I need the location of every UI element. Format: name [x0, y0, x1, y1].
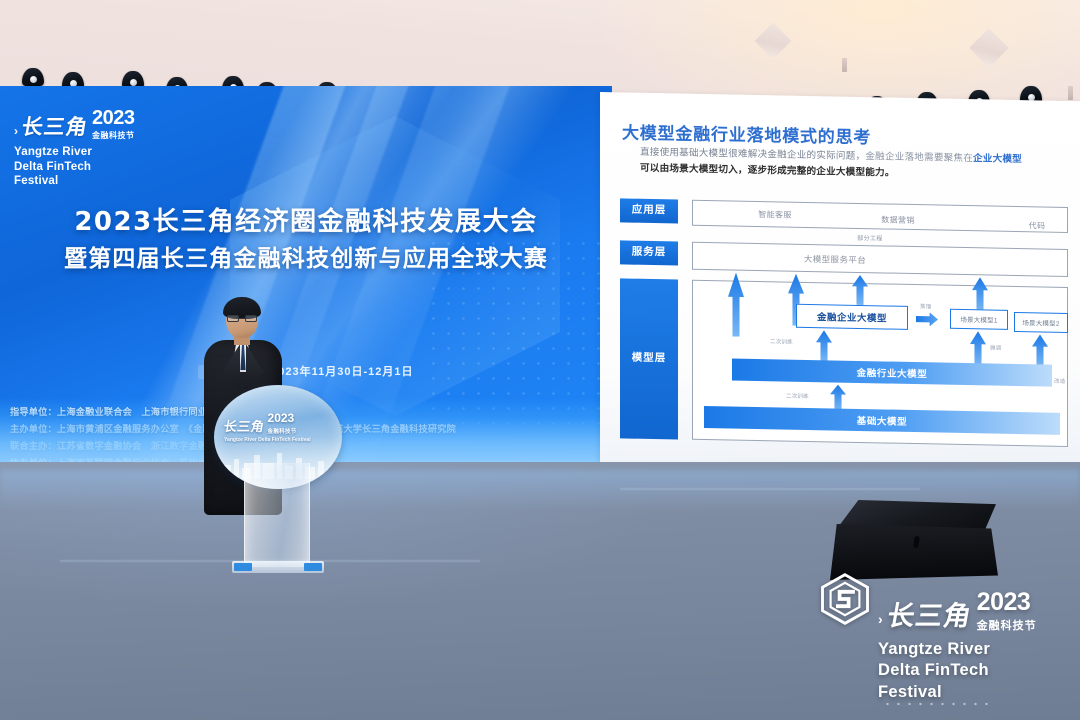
festival-emblem-icon — [818, 572, 872, 626]
podium-base — [232, 561, 324, 573]
event-dates: 2023年11月30日-12月1日 — [271, 366, 413, 378]
layer-label-text: 服务层 — [632, 247, 667, 259]
podium-acrylic-column — [244, 463, 310, 567]
app-item-data-marketing: 数据营销 — [858, 210, 938, 230]
podium: 长三角 2023 金融科技节 Yangtze River Delta FinTe… — [214, 385, 342, 575]
logo-year: 2023 — [92, 107, 135, 129]
event-title-line1: 2023长三角经济圈金融科技发展大会 — [0, 204, 612, 242]
service-platform-label: 大模型服务平台 — [770, 249, 900, 269]
layer-label-service: 服务层 — [620, 240, 678, 265]
flow-arrow-label-distill: 蒸馏 — [920, 302, 931, 310]
logo-en-line3: Festival — [14, 174, 174, 189]
podium-logo-year: 2023 — [268, 411, 295, 425]
architecture-diagram: 应用层 服务层 模型层 智能客服 数据营销 代码 部分工程 大模型服务平台 — [620, 196, 1072, 453]
layer-label-text: 模型层 — [632, 353, 667, 365]
conference-stage-photo: › 长三角 2023 金融科技节 Yangtze River Delta Fin… — [0, 0, 1080, 720]
podium-logo-subtitle: 金融科技节 — [268, 427, 297, 435]
event-title: 2023长三角经济圈金融科技发展大会 暨第四届长三角金融科技创新与应用全球大赛 — [0, 204, 612, 276]
slide-subtitle: 直接使用基础大模型很难解决金融企业的实际问题，金融企业落地需要聚焦在企业大模型 … — [640, 145, 1080, 185]
watermark-english-name: Yangtze River Delta FinTech Festival — [878, 639, 1074, 703]
layer-label-text: 应用层 — [632, 205, 667, 217]
watermark-en-line2: Delta FinTech — [878, 660, 1074, 681]
watermark-arrow-icon: › — [878, 611, 883, 627]
event-meta: 中国·上海2023年11月30日-12月1日 — [0, 363, 612, 379]
logo-en-line1: Yangtze River — [14, 145, 174, 160]
logo-english-name: Yangtze River Delta FinTech Festival — [14, 145, 174, 189]
festival-watermark: › 长三角 2023 金融科技节 Yangtze River Delta Fin… — [818, 572, 1076, 712]
scenario-model-box-2: 场景大模型2 — [1014, 312, 1068, 333]
flow-arrow-label-retrain-2: 二次训练 — [786, 392, 809, 400]
logo-chinese-name: 长三角 — [20, 111, 91, 141]
slide-subtitle-part1: 直接使用基础大模型很难解决金融企业的实际问题， — [640, 147, 865, 162]
flow-arrow-label-finetune: 微调 — [990, 343, 1001, 351]
layer-label-application: 应用层 — [620, 198, 678, 223]
festival-logo: › 长三角 2023 金融科技节 Yangtze River Delta Fin… — [14, 108, 174, 189]
layer-label-model: 模型层 — [620, 278, 678, 439]
watermark-year: 2023 — [977, 588, 1031, 616]
app-layer-note: 部分工程 — [830, 230, 910, 244]
logo-arrow-icon: › — [14, 125, 18, 137]
logo-chinese-subtitle: 金融科技节 — [92, 130, 135, 141]
watermark-chinese-name: 长三角 — [884, 594, 975, 633]
projection-screen: 大模型金融行业落地模式的思考 直接使用基础大模型很难解决金融企业的实际问题，金融… — [600, 92, 1080, 473]
app-item-code: 代码 — [1010, 216, 1064, 235]
flow-arrow-label-adapt: 改造 — [1054, 377, 1065, 385]
podium-logo-english: Yangtze River Delta FinTech Festival — [224, 437, 334, 444]
flow-arrow-label-retrain: 二次训练 — [770, 337, 793, 345]
watermark-en-line1: Yangtze River — [878, 639, 1074, 660]
app-item-customer-service: 智能客服 — [730, 204, 820, 224]
enterprise-model-box: 金融企业大模型 — [796, 304, 908, 330]
slide-subtitle-part2: 金融企业落地需要聚焦在 — [865, 151, 973, 164]
event-title-line2: 暨第四届长三角金融科技创新与应用全球大赛 — [0, 242, 612, 277]
floor-seam — [620, 488, 920, 490]
monitor-handle-slot — [913, 536, 920, 549]
watermark-dot-accent — [882, 700, 992, 708]
scenario-model-box-1: 场景大模型1 — [950, 309, 1008, 330]
podium-logo: 长三角 2023 金融科技节 Yangtze River Delta FinTe… — [224, 409, 334, 444]
podium-logo-chinese: 长三角 — [222, 416, 266, 435]
watermark-chinese-subtitle: 金融科技节 — [977, 617, 1037, 633]
speaker-glasses — [227, 315, 257, 322]
logo-en-line2: Delta FinTech — [14, 160, 174, 175]
slide-subtitle-emphasis: 企业大模型 — [973, 153, 1022, 165]
stage-light-icon — [22, 68, 44, 86]
watermark-text: › 长三角 2023 金融科技节 Yangtze River Delta Fin… — [878, 590, 1074, 703]
slide-title: 大模型金融行业落地模式的思考 — [622, 118, 871, 148]
